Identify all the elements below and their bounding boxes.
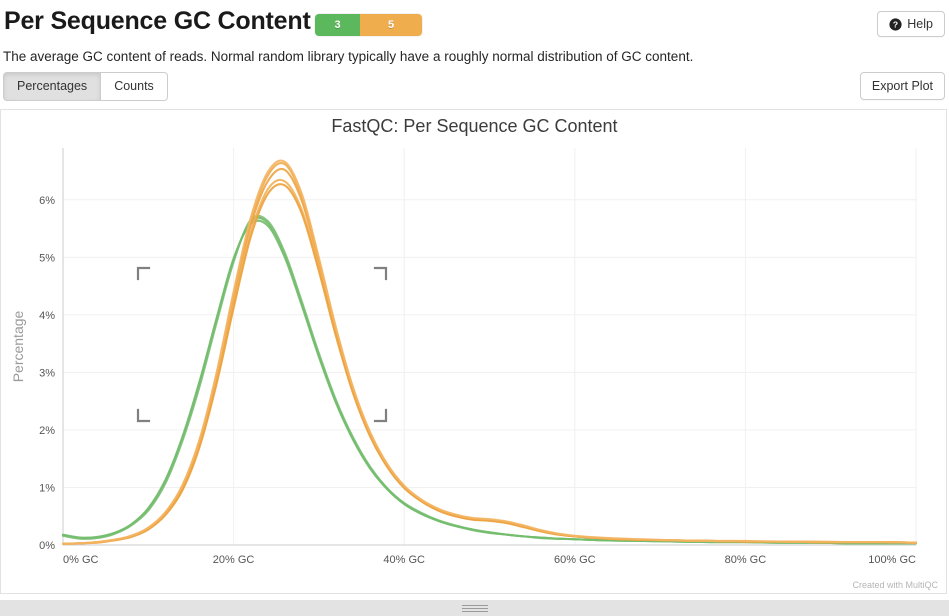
export-plot-button[interactable]: Export Plot [860,72,945,100]
plot-page: Per Sequence GC Content 3 5 ? Help The a… [0,0,949,616]
series-line-orange-sample-4 [63,184,916,544]
selection-handle-top-right [375,268,386,279]
y-tick-label: 0% [39,540,55,552]
x-tick-label: 40% GC [383,554,425,566]
help-button-label: Help [907,17,933,31]
resize-grip-icon [462,605,488,612]
selection-handle-bottom-left [138,410,149,421]
tab-percentages[interactable]: Percentages [3,72,101,101]
status-badge-pass[interactable]: 3 [315,14,360,36]
series-line-green-sample-2 [63,216,916,544]
selection-handle-bottom-right [375,410,386,421]
x-tick-label: 0% GC [63,554,99,566]
selection-handle-top-left [138,268,149,279]
module-description: The average GC content of reads. Normal … [3,48,873,66]
x-axis-title: % GC [471,592,508,595]
series-line-green-sample-1 [63,218,916,544]
y-tick-label: 2% [39,425,55,437]
svg-text:?: ? [893,19,898,29]
y-tick-label: 1% [39,482,55,494]
x-tick-label: 20% GC [213,554,255,566]
multiqc-watermark: Created with MultiQC [852,580,938,590]
y-tick-label: 6% [39,195,55,207]
y-axis-title: Percentage [10,310,26,382]
series-line-green-sample-3 [63,221,916,544]
chart-svg[interactable]: 0%1%2%3%4%5%6%0% GC20% GC40% GC60% GC80%… [1,110,948,595]
x-tick-label: 60% GC [554,554,596,566]
tab-counts[interactable]: Counts [101,72,168,101]
module-header: Per Sequence GC Content 3 5 ? Help [0,0,949,46]
series-line-orange-sample-5 [63,161,916,544]
plot-panel[interactable]: FastQC: Per Sequence GC Content 0%1%2%3%… [0,109,947,594]
series-line-orange-sample-3 [63,180,916,544]
plot-toolbar: Percentages Counts Export Plot [0,72,949,104]
dataset-switch-group: Percentages Counts [3,72,168,101]
question-circle-icon: ? [889,18,902,31]
help-button[interactable]: ? Help [877,11,945,37]
y-tick-label: 5% [39,252,55,264]
x-tick-label: 100% GC [868,554,916,566]
plot-resize-bar[interactable] [0,600,949,616]
y-tick-label: 3% [39,367,55,379]
chart-canvas[interactable]: 0%1%2%3%4%5%6%0% GC20% GC40% GC60% GC80%… [1,110,948,595]
x-tick-label: 80% GC [725,554,767,566]
y-tick-label: 4% [39,310,55,322]
status-badge: 3 5 [315,14,422,36]
page-title: Per Sequence GC Content [4,7,311,36]
status-badge-warn[interactable]: 5 [360,14,422,36]
series-line-orange-sample-1 [63,163,916,544]
